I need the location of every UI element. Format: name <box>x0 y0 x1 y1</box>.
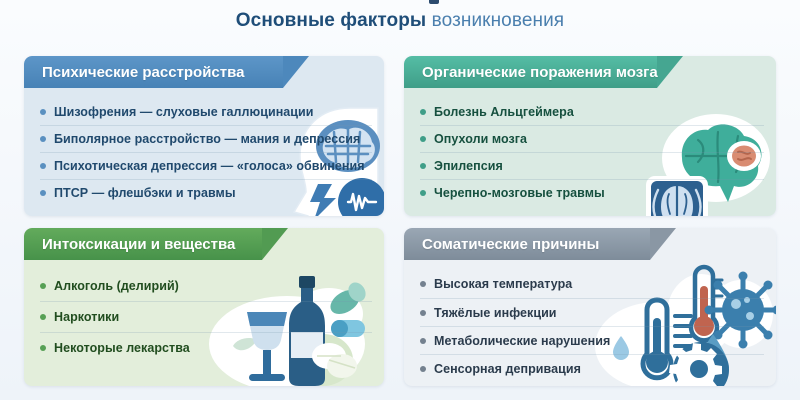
infographic-page: Основные факторы возникновения Психическ… <box>0 0 800 400</box>
top-cropped-fragment <box>429 0 439 4</box>
list-item-label: Тяжёлые инфекции <box>434 306 557 320</box>
card-header-label: Интоксикации и вещества <box>24 236 235 253</box>
list-item-label: ПТСР — флешбэки и травмы <box>54 186 236 200</box>
page-title-light: возникновения <box>426 10 564 31</box>
list-item: Болезнь Альцгеймера <box>420 98 764 125</box>
bullet-list-intoxication: Алкоголь (делирий) Наркотики Некоторые л… <box>40 270 372 363</box>
list-item-label: Черепно-мозговые травмы <box>434 186 605 200</box>
card-header-organic: Органические поражения мозга <box>404 56 657 88</box>
list-item-label: Высокая температура <box>434 277 572 291</box>
page-title: Основные факторы возникновения <box>0 10 800 32</box>
card-intoxication-substances: Интоксикации и вещества <box>24 228 384 386</box>
page-title-strong: Основные факторы <box>236 10 426 31</box>
list-item-label: Сенсорная депривация <box>434 362 581 376</box>
list-item-label: Алкоголь (делирий) <box>54 279 179 293</box>
list-item: Наркотики <box>40 301 372 332</box>
list-item: Метаболические нарушения <box>420 326 764 354</box>
bullet-dot-icon <box>420 109 426 115</box>
list-item: Алкоголь (делирий) <box>40 270 372 301</box>
card-body-organic: Болезнь Альцгеймера Опухоли мозга Эпилеп… <box>404 88 776 216</box>
list-item-label: Шизофрения — слуховые галлюцинации <box>54 105 314 119</box>
bullet-dot-icon <box>420 281 426 287</box>
bullet-dot-icon <box>40 163 46 169</box>
list-item-label: Болезнь Альцгеймера <box>434 105 574 119</box>
list-item-label: Наркотики <box>54 310 119 324</box>
bullet-dot-icon <box>40 314 46 320</box>
bullet-dot-icon <box>40 345 46 351</box>
bullet-list-psychiatric: Шизофрения — слуховые галлюцинации Бипол… <box>40 98 372 206</box>
bullet-list-somatic: Высокая температура Тяжёлые инфекции Мет… <box>420 270 764 382</box>
bullet-dot-icon <box>420 310 426 316</box>
bullet-dot-icon <box>420 338 426 344</box>
card-psychiatric-disorders: Психические расстройства Шизофрения — сл… <box>24 56 384 216</box>
list-item: Эпилепсия <box>420 152 764 179</box>
card-header-label: Соматические причины <box>404 236 599 253</box>
bullet-dot-icon <box>40 283 46 289</box>
card-organic-brain-lesions: Органические поражения мозга <box>404 56 776 216</box>
list-item: Высокая температура <box>420 270 764 298</box>
list-item: Психотическая депрессия — «голоса» обвин… <box>40 152 372 179</box>
list-item: ПТСР — флешбэки и травмы <box>40 179 372 206</box>
bullet-dot-icon <box>40 190 46 196</box>
list-item: Тяжёлые инфекции <box>420 298 764 326</box>
list-item-label: Психотическая депрессия — «голоса» обвин… <box>54 159 365 173</box>
card-somatic-causes: Соматические причины <box>404 228 776 386</box>
list-item-label: Биполярное расстройство — мания и депрес… <box>54 132 360 146</box>
bullet-dot-icon <box>40 136 46 142</box>
list-item: Шизофрения — слуховые галлюцинации <box>40 98 372 125</box>
list-item: Опухоли мозга <box>420 125 764 152</box>
list-item: Черепно-мозговые травмы <box>420 179 764 206</box>
list-item: Некоторые лекарства <box>40 332 372 363</box>
list-item-label: Некоторые лекарства <box>54 341 190 355</box>
card-body-psychiatric: Шизофрения — слуховые галлюцинации Бипол… <box>24 88 384 216</box>
bullet-list-organic: Болезнь Альцгеймера Опухоли мозга Эпилеп… <box>420 98 764 206</box>
bullet-dot-icon <box>40 109 46 115</box>
bullet-dot-icon <box>420 190 426 196</box>
bullet-dot-icon <box>420 366 426 372</box>
card-header-psychiatric: Психические расстройства <box>24 56 283 88</box>
card-header-label: Органические поражения мозга <box>404 64 658 81</box>
card-body-intoxication: Алкоголь (делирий) Наркотики Некоторые л… <box>24 260 384 386</box>
bullet-dot-icon <box>420 136 426 142</box>
list-item: Биполярное расстройство — мания и депрес… <box>40 125 372 152</box>
list-item-label: Опухоли мозга <box>434 132 527 146</box>
list-item: Сенсорная депривация <box>420 354 764 382</box>
list-item-label: Метаболические нарушения <box>434 334 610 348</box>
card-header-label: Психические расстройства <box>24 64 244 81</box>
card-body-somatic: Высокая температура Тяжёлые инфекции Мет… <box>404 260 776 386</box>
list-item-label: Эпилепсия <box>434 159 503 173</box>
card-header-somatic: Соматические причины <box>404 228 650 260</box>
card-header-intoxication: Интоксикации и вещества <box>24 228 262 260</box>
bullet-dot-icon <box>420 163 426 169</box>
